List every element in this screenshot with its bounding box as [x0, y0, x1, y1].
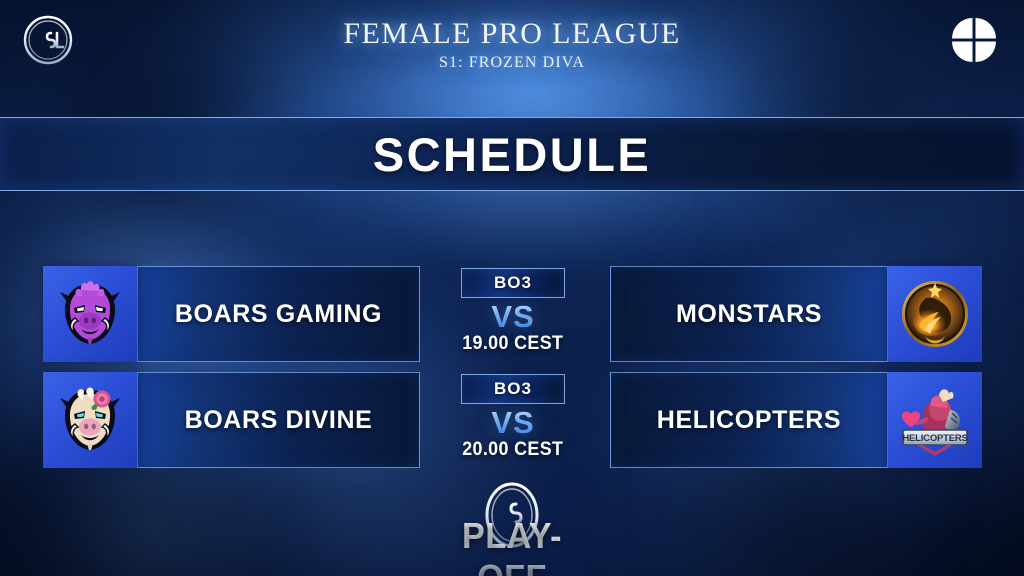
- match-format-box: BO3: [461, 374, 565, 404]
- header: FEMALE PRO LEAGUE S1: FROZEN DIVA: [0, 0, 1024, 110]
- match-format-label: BO3: [494, 273, 532, 293]
- team-name: HELICOPTERS: [657, 406, 841, 435]
- banner-title: SCHEDULE: [373, 127, 652, 182]
- schedule-graphic: FEMALE PRO LEAGUE S1: FROZEN DIVA SCHEDU…: [0, 0, 1024, 576]
- schedule-banner: SCHEDULE: [0, 117, 1024, 191]
- team-name-plate: MONSTARS: [610, 266, 888, 362]
- playoff-label: PLAY-OFF: [431, 515, 593, 576]
- match-center-info: BO3 VS 20.00 CEST: [433, 368, 593, 472]
- match-right-side: HELICOPTERS: [610, 372, 982, 468]
- header-title-group: FEMALE PRO LEAGUE S1: FROZEN DIVA: [0, 17, 1024, 72]
- match-row: BOARS DIVINE BO3 VS 20.00 CEST HELICOPTE…: [0, 368, 1024, 472]
- team-name-plate: BOARS DIVINE: [137, 372, 420, 468]
- match-time: 19.00 CEST: [462, 333, 563, 355]
- gold-dragon-medallion-icon: [888, 266, 982, 362]
- match-left-side: BOARS DIVINE: [43, 372, 420, 468]
- match-time: 20.00 CEST: [462, 439, 563, 461]
- match-row: BOARS GAMING BO3 VS 19.00 CEST MONSTARS: [0, 262, 1024, 366]
- cream-boar-head-rose-icon: [43, 372, 137, 468]
- footer: PLAY-OFF: [0, 482, 1024, 576]
- four-petal-mark-icon: [948, 14, 1000, 66]
- match-left-side: BOARS GAMING: [43, 266, 420, 362]
- match-list: BOARS GAMING BO3 VS 19.00 CEST MONSTARS: [0, 262, 1024, 474]
- match-format-box: BO3: [461, 268, 565, 298]
- season-subtitle: S1: FROZEN DIVA: [0, 54, 1024, 72]
- team-name: BOARS DIVINE: [185, 406, 373, 435]
- match-right-side: MONSTARS: [610, 266, 982, 362]
- match-center-info: BO3 VS 19.00 CEST: [433, 262, 593, 366]
- vs-label: VS: [491, 299, 534, 335]
- svg-text:HELICOPTERS: HELICOPTERS: [902, 433, 967, 444]
- purple-boar-head-icon: [43, 266, 137, 362]
- helicopters-warrior-heart-icon: HELICOPTERS: [888, 372, 982, 468]
- match-format-label: BO3: [494, 379, 532, 399]
- team-name: MONSTARS: [676, 300, 822, 329]
- team-name-plate: HELICOPTERS: [610, 372, 888, 468]
- team-name: BOARS GAMING: [175, 300, 382, 329]
- league-title: FEMALE PRO LEAGUE: [0, 17, 1024, 51]
- vs-label: VS: [491, 405, 534, 441]
- team-name-plate: BOARS GAMING: [137, 266, 420, 362]
